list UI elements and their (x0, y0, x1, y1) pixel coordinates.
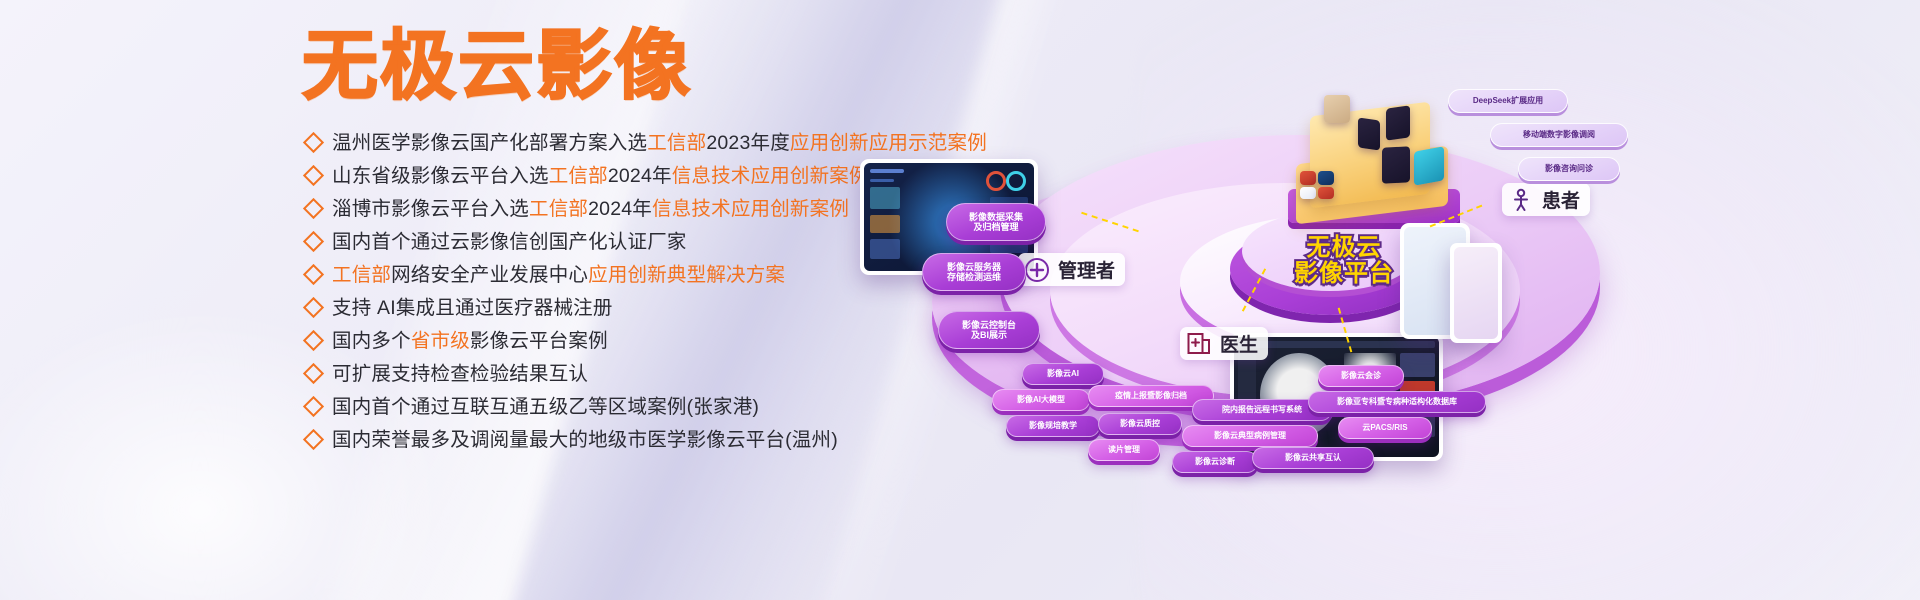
bullet-highlight-text: 信息技术应用创新案例 (672, 165, 869, 187)
bullet-plain-text: 2023年度 (706, 132, 790, 154)
bullet-highlight-text: 信息技术应用创新案例 (652, 198, 849, 220)
tower-panel-blue (1318, 171, 1334, 185)
pill-label: 疫情上报暨影像归档 (1115, 392, 1187, 401)
diamond-bullet-icon (303, 198, 324, 219)
pill-left-1[interactable]: 影像云服务器存储检测运维 (922, 253, 1026, 291)
bullet-plain-text: 国内首个通过云影像信创国产化认证厂家 (332, 231, 687, 253)
diamond-bullet-icon (303, 132, 324, 153)
tower-panel-cyan (1414, 146, 1444, 185)
feature-bullet-text: 温州医学影像云国产化部署方案入选工信部2023年度应用创新应用示范案例 (332, 128, 987, 159)
feature-bullet-text: 可扩展支持检查检验结果互认 (332, 359, 588, 390)
pill-bottom-0[interactable]: 影像云AI (1022, 363, 1104, 385)
diamond-bullet-icon (303, 396, 324, 417)
pill-label: 影像云服务器存储检测运维 (947, 262, 1001, 282)
feature-bullet-item: 淄博市影像云平台入选工信部2024年信息技术应用创新案例 (306, 194, 946, 227)
pill-label: 影像云控制台及BI展示 (962, 320, 1016, 340)
bullet-plain-text: 2024年 (588, 198, 652, 220)
pill-bottom-1[interactable]: 影像AI大模型 (992, 389, 1090, 411)
feature-bullet-item: 支持 AI集成且通过医疗器械注册 (306, 293, 946, 326)
left-content-column: 无极云影像 温州医学影像云国产化部署方案入选工信部2023年度应用创新应用示范案… (0, 0, 960, 600)
tower-panel-scan-b (1386, 105, 1410, 140)
tower-panel-tan (1324, 95, 1350, 123)
tower-panel-chart (1382, 146, 1410, 183)
diamond-bullet-icon (303, 363, 324, 384)
pill-label: 院内报告远程书写系统 (1222, 406, 1302, 415)
pill-bottom-8[interactable]: 影像云诊断 (1172, 451, 1258, 473)
pill-bottom-11[interactable]: 云PACS/RIS (1338, 417, 1432, 439)
banner-stage: 无极云影像 温州医学影像云国产化部署方案入选工信部2023年度应用创新应用示范案… (0, 0, 1920, 600)
pill-bottom-10[interactable]: 影像亚专科暨专病种适构化数据库 (1308, 391, 1486, 413)
pill-left-2[interactable]: 影像云控制台及BI展示 (938, 311, 1040, 349)
platform-illustration: 无极云 影像平台 管理者 医生 (930, 95, 1670, 515)
pill-bottom-12[interactable]: 影像云共享互认 (1252, 447, 1374, 469)
pill-right-0[interactable]: DeepSeek扩展应用 (1448, 89, 1568, 113)
bullet-plain-text: 支持 AI集成且通过医疗器械注册 (332, 297, 613, 319)
plus-circle-icon (1024, 257, 1050, 283)
bullet-plain-text: 可扩展支持检查检验结果互认 (332, 363, 588, 385)
diamond-bullet-icon (303, 264, 324, 285)
role-chip-administrator[interactable]: 管理者 (1018, 253, 1125, 286)
bullet-highlight-text: 省市级 (411, 330, 470, 352)
bullet-highlight-text: 工信部 (332, 264, 391, 286)
pill-label: 云PACS/RIS (1362, 424, 1407, 433)
diamond-bullet-icon (303, 429, 324, 450)
bullet-plain-text: 影像云平台案例 (470, 330, 608, 352)
bullet-highlight-text: 工信部 (529, 198, 588, 220)
bullet-plain-text: 国内首个通过互联互通五级乙等区域案例(张家港) (332, 396, 759, 418)
pill-bottom-9[interactable]: 影像云会诊 (1318, 365, 1404, 387)
pill-bottom-7[interactable]: 影像云典型病例管理 (1182, 425, 1318, 447)
tower-panel-red-2 (1318, 187, 1334, 199)
bullet-highlight-text: 工信部 (647, 132, 706, 154)
medical-record-icon (1186, 331, 1212, 357)
brand-badge: 无极云 影像平台 (1264, 235, 1424, 287)
role-label: 患者 (1542, 186, 1580, 213)
patient-phone-screen-2 (1450, 243, 1502, 343)
feature-bullet-text: 工信部网络安全产业发展中心应用创新典型解决方案 (332, 260, 785, 291)
tower-panel-white (1300, 187, 1316, 199)
bullet-plain-text: 温州医学影像云国产化部署方案入选 (332, 132, 647, 154)
feature-bullet-text: 支持 AI集成且通过医疗器械注册 (332, 293, 613, 324)
bullet-plain-text: 淄博市影像云平台入选 (332, 198, 529, 220)
feature-bullet-item: 国内荣誉最多及调阅量最大的地级市医学影像云平台(温州) (306, 425, 946, 458)
pill-label: 影像云会诊 (1341, 372, 1381, 381)
bullet-plain-text: 国内多个 (332, 330, 411, 352)
brand-badge-line2: 影像平台 (1264, 261, 1424, 287)
diamond-bullet-icon (303, 297, 324, 318)
person-icon (1508, 187, 1534, 213)
page-title: 无极云影像 (302, 24, 692, 110)
diamond-bullet-icon (303, 165, 324, 186)
pill-label: 影像云诊断 (1195, 458, 1235, 467)
role-chip-patient[interactable]: 患者 (1502, 183, 1590, 216)
diamond-bullet-icon (303, 231, 324, 252)
bullet-plain-text: 2024年 (608, 165, 672, 187)
bullet-highlight-text: 应用创新典型解决方案 (588, 264, 785, 286)
pill-bottom-2[interactable]: 影像规培教学 (1006, 415, 1100, 437)
role-label: 管理者 (1058, 256, 1115, 283)
feature-bullet-item: 国内多个省市级影像云平台案例 (306, 326, 946, 359)
pill-label: 移动端数字影像调阅 (1523, 131, 1595, 140)
feature-bullet-list: 温州医学影像云国产化部署方案入选工信部2023年度应用创新应用示范案例山东省级影… (306, 128, 946, 458)
feature-bullet-item: 可扩展支持检查检验结果互认 (306, 359, 946, 392)
bullet-highlight-text: 工信部 (549, 165, 608, 187)
pill-bottom-5[interactable]: 读片管理 (1088, 439, 1160, 461)
pill-label: 影像数据采集及归档管理 (969, 212, 1023, 232)
feature-bullet-text: 国内首个通过互联互通五级乙等区域案例(张家港) (332, 392, 759, 423)
pill-label: 影像AI大模型 (1017, 396, 1065, 405)
pill-label: 影像亚专科暨专病种适构化数据库 (1337, 398, 1457, 407)
pill-right-1[interactable]: 移动端数字影像调阅 (1490, 123, 1628, 147)
pill-label: 影像云质控 (1120, 420, 1160, 429)
feature-bullet-item: 温州医学影像云国产化部署方案入选工信部2023年度应用创新应用示范案例 (306, 128, 946, 161)
brand-badge-line1: 无极云 (1264, 235, 1424, 261)
tower-panel-red (1300, 171, 1316, 185)
bullet-plain-text: 国内荣誉最多及调阅量最大的地级市医学影像云平台(温州) (332, 429, 838, 451)
feature-bullet-item: 工信部网络安全产业发展中心应用创新典型解决方案 (306, 260, 946, 293)
feature-bullet-text: 国内多个省市级影像云平台案例 (332, 326, 608, 357)
pill-label: 影像云共享互认 (1285, 454, 1341, 463)
pill-label: 影像规培教学 (1029, 422, 1077, 431)
feature-bullet-text: 山东省级影像云平台入选工信部2024年信息技术应用创新案例 (332, 161, 869, 192)
pill-left-0[interactable]: 影像数据采集及归档管理 (946, 203, 1046, 241)
role-label: 医生 (1220, 330, 1258, 357)
pill-right-2[interactable]: 影像咨询问诊 (1518, 157, 1620, 181)
feature-bullet-text: 国内首个通过云影像信创国产化认证厂家 (332, 227, 687, 258)
feature-bullet-item: 国内首个通过互联互通五级乙等区域案例(张家港) (306, 392, 946, 425)
bullet-plain-text: 山东省级影像云平台入选 (332, 165, 549, 187)
bullet-plain-text: 网络安全产业发展中心 (391, 264, 588, 286)
pill-bottom-4[interactable]: 影像云质控 (1098, 413, 1182, 435)
feature-bullet-text: 淄博市影像云平台入选工信部2024年信息技术应用创新案例 (332, 194, 849, 225)
diamond-bullet-icon (303, 330, 324, 351)
feature-bullet-text: 国内荣誉最多及调阅量最大的地级市医学影像云平台(温州) (332, 425, 838, 456)
pill-label: 影像云典型病例管理 (1214, 432, 1286, 441)
pill-label: DeepSeek扩展应用 (1473, 97, 1543, 106)
feature-bullet-item: 国内首个通过云影像信创国产化认证厂家 (306, 227, 946, 260)
role-chip-doctor[interactable]: 医生 (1180, 327, 1268, 360)
pill-label: 读片管理 (1108, 446, 1140, 455)
tower-panel-scan-a (1358, 117, 1380, 150)
pill-label: 影像云AI (1047, 370, 1079, 379)
feature-bullet-item: 山东省级影像云平台入选工信部2024年信息技术应用创新案例 (306, 161, 946, 194)
patient-phone-content-2 (1454, 247, 1498, 339)
pill-label: 影像咨询问诊 (1545, 165, 1593, 174)
